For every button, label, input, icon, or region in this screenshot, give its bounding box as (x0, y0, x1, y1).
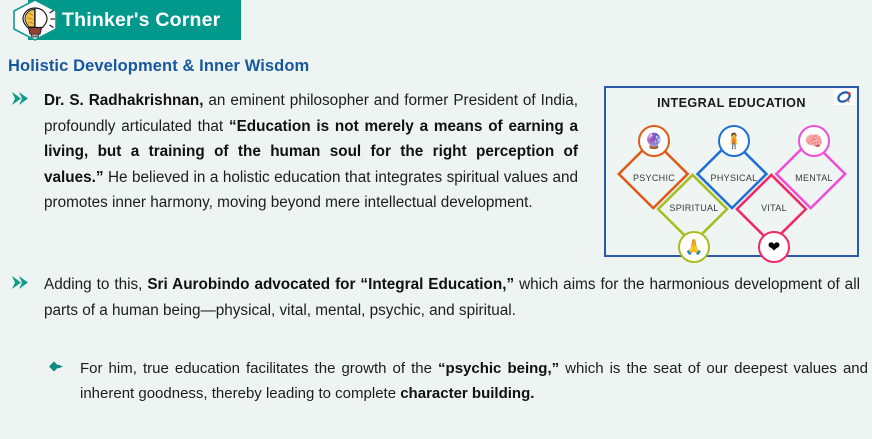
emphasis-text: character building. (400, 385, 534, 402)
meditating-person-icon: 🙏 (678, 231, 710, 263)
list-item-text: For him, true education facilitates the … (80, 356, 868, 407)
emphasis-text: Dr. S. Radhakrishnan, (44, 92, 203, 109)
diamond-label-spiritual: SPIRITUAL (669, 203, 718, 213)
diamond-label-vital: VITAL (761, 203, 787, 213)
banner-title: Thinker's Corner (62, 0, 220, 40)
vitruvian-body-icon: 🧍 (718, 125, 750, 157)
diamond-label-mental: MENTAL (795, 173, 833, 183)
diamond-label-physical: PHYSICAL (711, 173, 758, 183)
psychic-lamp-icon: 🔮 (638, 125, 670, 157)
list-item: For him, true education facilitates the … (44, 356, 868, 407)
body-text: He believed in a holistic education that… (44, 169, 578, 212)
chevron-arrow-marker-icon (8, 272, 32, 294)
emphasis-text: Sri Aurobindo advocated for “Integral Ed… (147, 276, 514, 293)
page-title: Holistic Development & Inner Wisdom (8, 57, 309, 76)
lightbulb-brain-hexagon-icon (6, 0, 64, 42)
list-item: Adding to this, Sri Aurobindo advocated … (8, 272, 868, 323)
thinkers-corner-banner: Thinker's Corner (0, 0, 241, 40)
heartbeat-heart-icon: ❤ (758, 231, 790, 263)
integral-education-diagram: INTEGRAL EDUCATION PSYCHIC🔮PHYSICAL🧍MENT… (604, 86, 859, 257)
list-item-text: Adding to this, Sri Aurobindo advocated … (44, 272, 860, 323)
head-brain-icon: 🧠 (798, 125, 830, 157)
list-item: Dr. S. Radhakrishnan, an eminent philoso… (8, 88, 586, 216)
chevron-arrow-marker-icon (8, 88, 32, 110)
body-text: Adding to this, (44, 276, 147, 293)
diamond-label-psychic: PSYCHIC (633, 173, 675, 183)
diamond-arrow-marker-icon (44, 356, 68, 378)
body-text: For him, true education facilitates the … (80, 360, 438, 377)
list-item-text: Dr. S. Radhakrishnan, an eminent philoso… (44, 88, 578, 216)
diagram-diamonds (606, 88, 857, 255)
emphasis-text: “psychic being,” (438, 360, 559, 377)
